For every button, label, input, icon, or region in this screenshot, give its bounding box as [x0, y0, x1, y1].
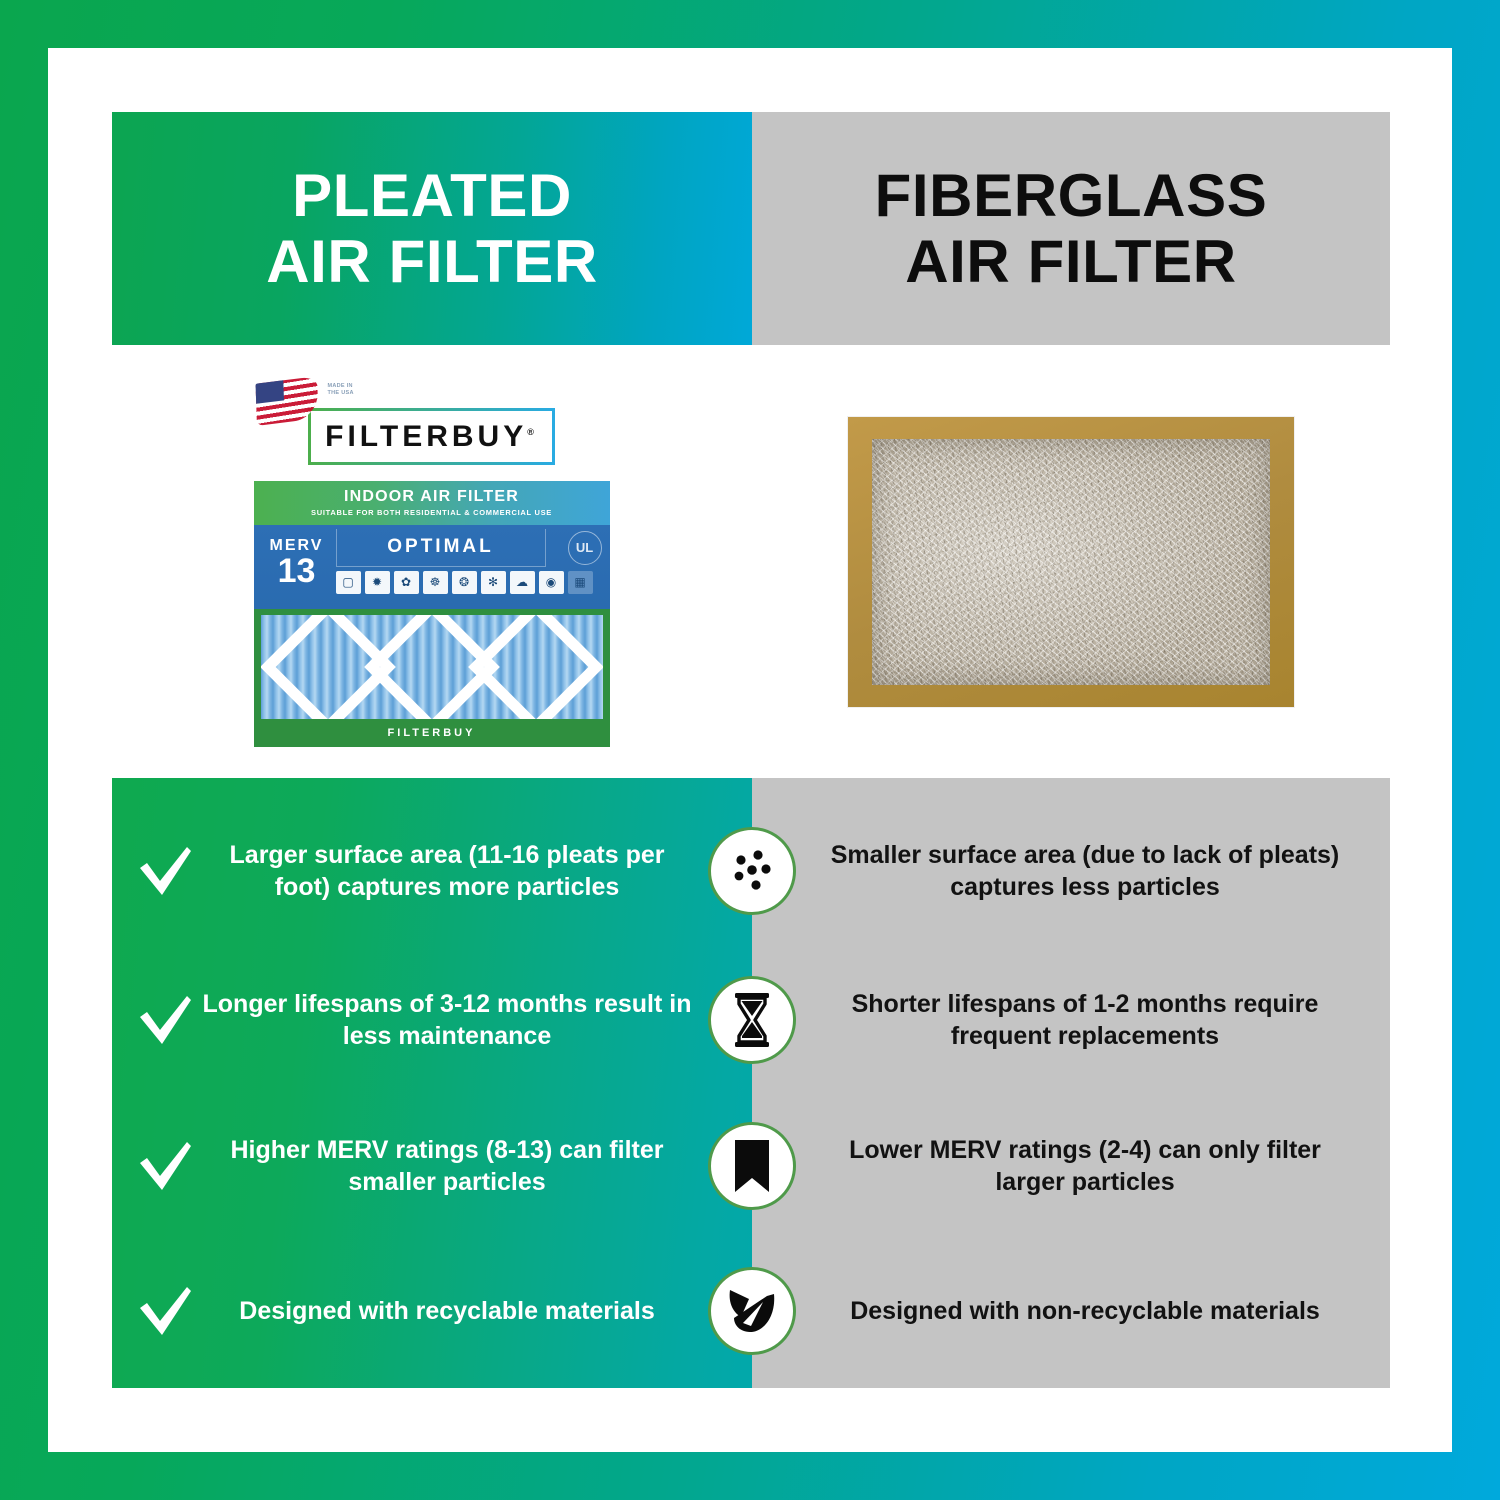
row-right-text: Shorter lifespans of 1-2 months require …	[814, 988, 1356, 1053]
checkmark-icon	[134, 845, 196, 897]
pleated-photo-cell: MADE IN THE USA FILTERBUY® INDOOR AIR FI…	[112, 345, 751, 778]
made-in-usa-text: MADE IN THE USA	[328, 383, 354, 398]
filterbuy-logo-box: FILTERBUY®	[308, 408, 555, 465]
comparison-row: Higher MERV ratings (8-13) can filter sm…	[112, 1094, 1390, 1238]
pleated-media-section: FILTERBUY	[254, 609, 610, 747]
row-right-text: Lower MERV ratings (2-4) can only filter…	[814, 1134, 1356, 1199]
pleated-box-top: MADE IN THE USA FILTERBUY®	[254, 377, 610, 481]
disabled-feature-icon: ▦	[568, 571, 593, 594]
row-left-text: Larger surface area (11-16 pleats per fo…	[200, 839, 694, 904]
particles-icon	[708, 827, 796, 915]
header-fiberglass-title: FIBERGLASS AIR FILTER	[875, 163, 1268, 295]
row-left-cell: Longer lifespans of 3-12 months result i…	[112, 946, 752, 1094]
row-right-text: Designed with non-recyclable materials	[850, 1295, 1320, 1328]
inner-white-card: PLEATED AIR FILTER FIBERGLASS AIR FILTER	[48, 48, 1452, 1452]
header-fiberglass-line2: AIR FILTER	[875, 229, 1268, 295]
banner-title: INDOOR AIR FILTER	[344, 488, 519, 506]
header-band: PLEATED AIR FILTER FIBERGLASS AIR FILTER	[112, 112, 1390, 345]
pleat-media	[261, 615, 603, 719]
leaf-recycle-icon	[708, 1267, 796, 1355]
hourglass-icon	[708, 976, 796, 1064]
header-pleated: PLEATED AIR FILTER	[112, 112, 752, 345]
comparison-row: Longer lifespans of 3-12 months result i…	[112, 946, 1390, 1094]
merv-spec-panel: MERV 13 OPTIMAL UL ▢ ✹ ✿ ☸ ❂ ✻ ☁	[254, 525, 610, 609]
ul-certification-icon: UL	[568, 531, 602, 565]
indoor-air-filter-banner: INDOOR AIR FILTER SUITABLE FOR BOTH RESI…	[254, 481, 610, 525]
merv-value: 13	[260, 555, 334, 587]
header-pleated-line1: PLEATED	[266, 163, 598, 229]
product-photo-row: MADE IN THE USA FILTERBUY® INDOOR AIR FI…	[112, 345, 1390, 778]
bacteria-icon: ✻	[481, 571, 506, 594]
bookmark-ribbon-icon	[708, 1122, 796, 1210]
bacteria-alt-icon: ◉	[539, 571, 564, 594]
checkmark-icon	[134, 994, 196, 1046]
lint-icon: ❂	[452, 571, 477, 594]
smoke-icon: ☁	[510, 571, 535, 594]
header-fiberglass: FIBERGLASS AIR FILTER	[752, 112, 1390, 345]
header-pleated-line2: AIR FILTER	[266, 229, 598, 295]
filterbuy-brand: FILTERBUY	[325, 420, 527, 453]
comparison-row: Designed with recyclable materials Desig…	[112, 1238, 1390, 1384]
row-right-cell: Lower MERV ratings (2-4) can only filter…	[752, 1094, 1390, 1238]
feature-icon-strip: ▢ ✹ ✿ ☸ ❂ ✻ ☁ ◉ ▦	[336, 569, 602, 607]
filterbuy-logo-text: FILTERBUY®	[325, 420, 538, 454]
fiberglass-photo-cell	[751, 345, 1390, 778]
made-in-line1: MADE IN	[328, 383, 354, 390]
merv-block: MERV 13	[260, 529, 334, 605]
trademark-mark: ®	[527, 427, 538, 437]
row-left-text: Longer lifespans of 3-12 months result i…	[200, 988, 694, 1053]
row-left-cell: Designed with recyclable materials	[112, 1238, 752, 1384]
row-left-text: Designed with recyclable materials	[200, 1295, 694, 1328]
checkmark-icon	[134, 1140, 196, 1192]
banner-subtitle: SUITABLE FOR BOTH RESIDENTIAL & COMMERCI…	[311, 508, 552, 517]
row-left-cell: Higher MERV ratings (8-13) can filter sm…	[112, 1094, 752, 1238]
bottom-brand-text: FILTERBUY	[261, 727, 603, 739]
row-right-cell: Smaller surface area (due to lack of ple…	[752, 796, 1390, 946]
vacuum-dust-icon: ▢	[336, 571, 361, 594]
row-right-cell: Designed with non-recyclable materials	[752, 1238, 1390, 1384]
checkmark-icon	[134, 1285, 196, 1337]
header-pleated-title: PLEATED AIR FILTER	[266, 163, 598, 295]
row-left-text: Higher MERV ratings (8-13) can filter sm…	[200, 1134, 694, 1199]
pleated-filter-image: MADE IN THE USA FILTERBUY® INDOOR AIR FI…	[254, 377, 610, 747]
infographic-page: PLEATED AIR FILTER FIBERGLASS AIR FILTER	[0, 0, 1500, 1500]
support-diamond	[468, 615, 603, 719]
tier-label: OPTIMAL	[336, 529, 546, 567]
fiberglass-mesh	[872, 439, 1270, 685]
row-right-text: Smaller surface area (due to lack of ple…	[814, 839, 1356, 904]
dust-mites-icon: ✹	[365, 571, 390, 594]
made-in-line2: THE USA	[328, 390, 354, 397]
comparison-rows: Larger surface area (11-16 pleats per fo…	[112, 778, 1390, 1388]
row-left-cell: Larger surface area (11-16 pleats per fo…	[112, 796, 752, 946]
fiberglass-filter-image	[848, 417, 1294, 707]
mold-icon: ☸	[423, 571, 448, 594]
comparison-row: Larger surface area (11-16 pleats per fo…	[112, 796, 1390, 946]
row-right-cell: Shorter lifespans of 1-2 months require …	[752, 946, 1390, 1094]
pollen-icon: ✿	[394, 571, 419, 594]
header-fiberglass-line1: FIBERGLASS	[875, 163, 1268, 229]
